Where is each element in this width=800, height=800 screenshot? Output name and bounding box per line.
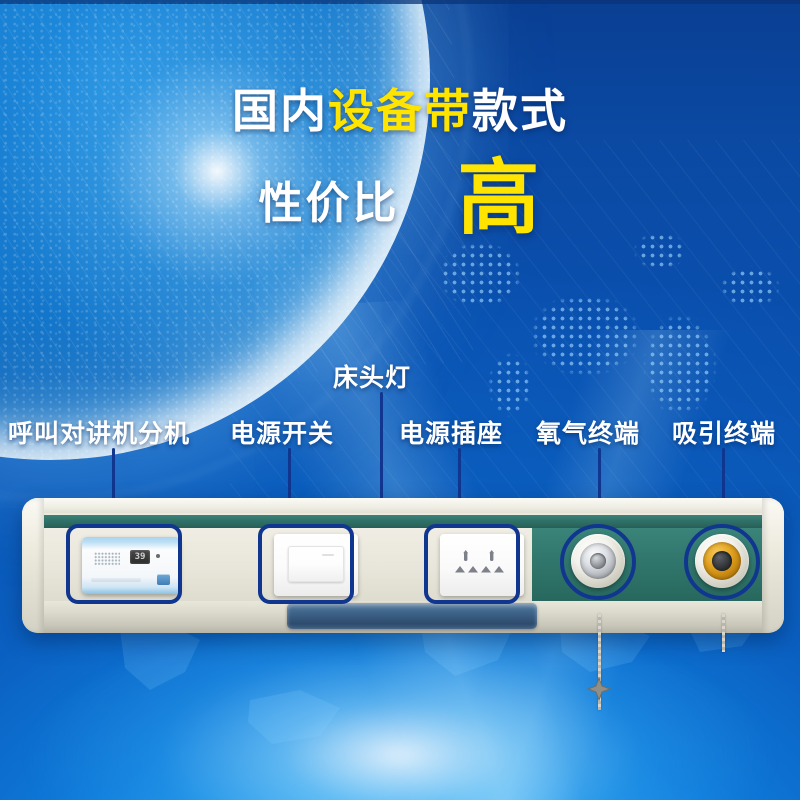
- top-edge-bar: [0, 0, 800, 4]
- headline-part-3: 款式: [472, 85, 568, 137]
- headline-part-1: 国内: [232, 85, 328, 137]
- callout-label-suction-terminal: 吸引终端: [672, 414, 776, 450]
- subheadline: 性价比 高: [0, 160, 800, 238]
- callout-label-nurse-call-intercom: 呼叫对讲机分机: [8, 414, 190, 450]
- callout-label-power-switch: 电源开关: [230, 414, 334, 450]
- oxygen-port-core: [590, 553, 606, 569]
- medical-equipment-panel: 39: [22, 498, 784, 633]
- intercom-slot: [91, 578, 141, 582]
- panel-stripe-top: [38, 515, 768, 528]
- panel-body: 39: [22, 498, 784, 633]
- suction-terminal[interactable]: [695, 534, 749, 588]
- panel-endcap-right: [762, 498, 784, 633]
- panel-endcap-left: [22, 498, 44, 633]
- headline-part-2: 设备带: [328, 85, 472, 137]
- callout-label-bed-head-light: 床头灯: [333, 358, 411, 394]
- intercom-display: 39: [130, 550, 150, 564]
- panel-top-edge: [22, 498, 784, 513]
- product-banner: 国内设备带款式 性价比 高 呼叫对讲机分机 电源开关 床头灯 电源插座 氧气终端…: [0, 0, 800, 800]
- subheadline-emphasis: 高: [457, 160, 541, 238]
- subheadline-text: 性价比: [258, 167, 399, 231]
- headline: 国内设备带款式: [0, 86, 800, 138]
- suction-hose-cord: [722, 614, 725, 652]
- oxygen-hook-icon: [586, 676, 612, 702]
- suction-port-core: [712, 551, 732, 571]
- callout-label-oxygen-terminal: 氧气终端: [536, 414, 640, 450]
- switch-indicator-mark: [322, 554, 334, 556]
- switch-rocker[interactable]: [288, 546, 344, 582]
- callout-label-power-socket: 电源插座: [399, 414, 503, 450]
- indicator-led-icon: [156, 554, 160, 558]
- nurse-call-intercom[interactable]: 39: [82, 537, 180, 594]
- oxygen-terminal[interactable]: [571, 534, 625, 588]
- power-switch[interactable]: [274, 534, 358, 596]
- bed-head-light[interactable]: [287, 603, 537, 629]
- power-socket[interactable]: [440, 534, 524, 596]
- speaker-grille-icon: [94, 552, 120, 566]
- socket-slots-icon: [454, 548, 510, 582]
- call-button-icon[interactable]: [157, 574, 170, 585]
